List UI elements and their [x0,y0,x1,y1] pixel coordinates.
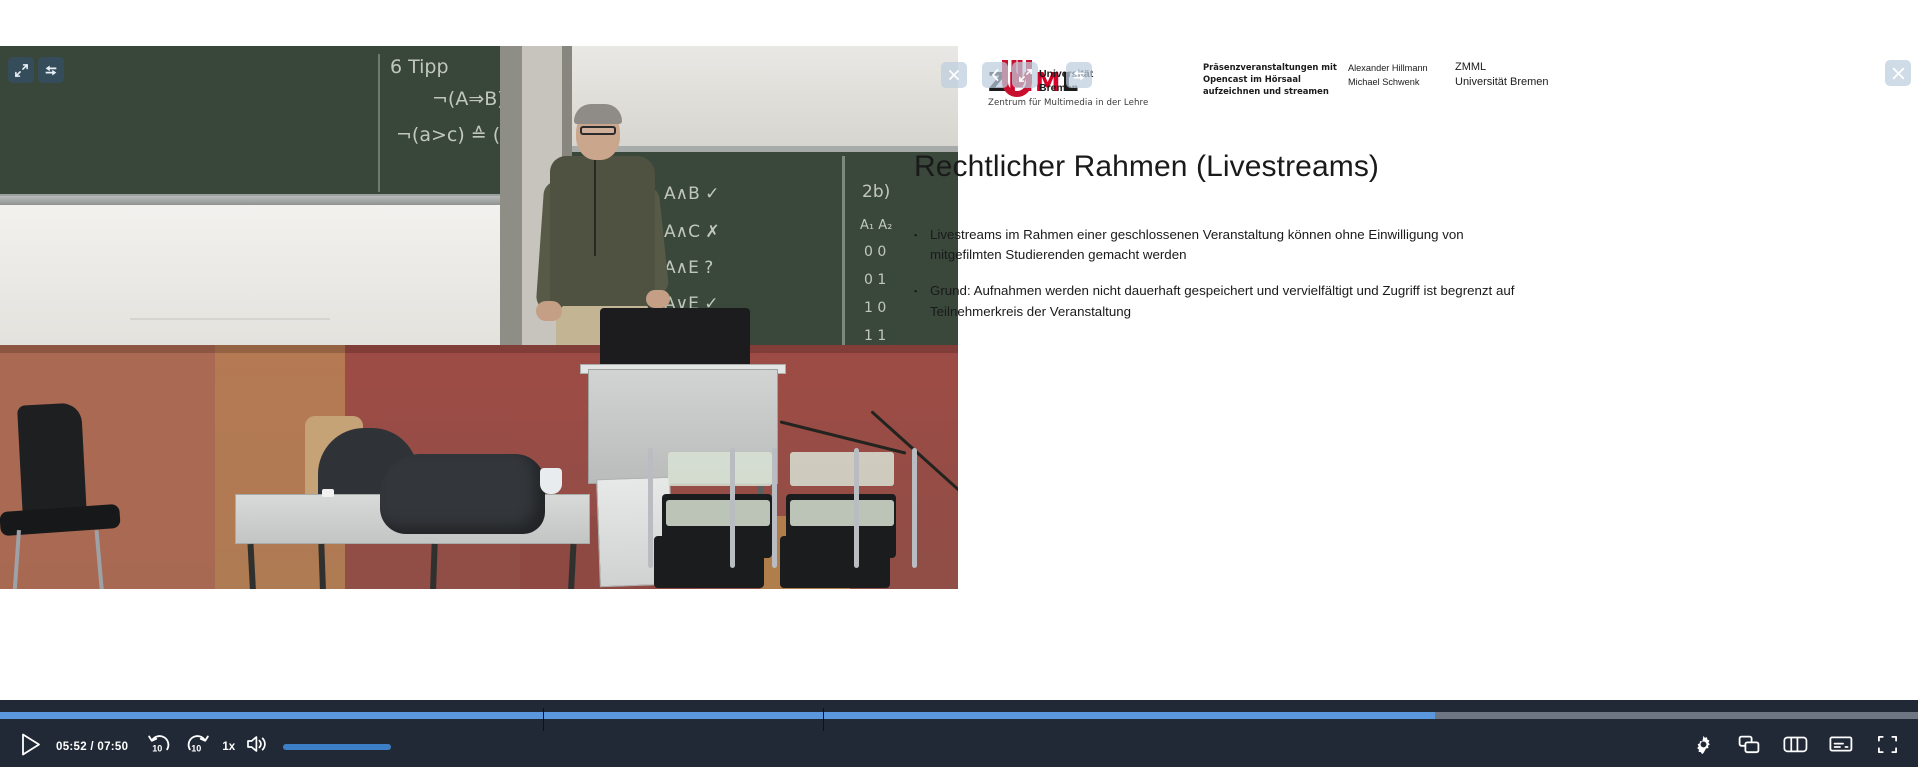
seat-backrest [790,452,894,486]
jacket-on-table [380,454,545,534]
fullscreen-button[interactable] [1874,726,1900,767]
rewind-10-button[interactable]: 10 [140,726,178,767]
seat-frame-bar [648,448,653,568]
layout-button[interactable] [1782,726,1808,767]
captions-button[interactable] [1828,726,1854,767]
close-icon [947,68,961,82]
seat-frame-bar [772,448,777,568]
lecturer-hand-left [536,301,562,321]
chalk-text: 0 0 [864,244,886,260]
seat-plate [666,500,770,526]
video-stream[interactable]: 6 Tipp ¬(A⇒B) ⟺ A ∧ ¬B ¬(a>c) ≙ (a≤c) A∧… [0,46,960,589]
video-player: 6 Tipp ¬(A⇒B) ⟺ A ∧ ¬B ¬(a>c) ≙ (a≤c) A∧… [0,0,1918,767]
slide-title: Rechtlicher Rahmen (Livestreams) [914,150,1814,184]
seat-base [780,536,890,588]
picture-in-picture-icon [1738,735,1760,759]
blackboard-left-divider [378,54,380,192]
slide-bullet-list: ▪ Livestreams im Rahmen einer geschlosse… [914,225,1534,338]
seat-frame-bar [912,448,917,568]
forward-10-icon: 10 [185,732,210,761]
forward-10-button[interactable]: 10 [178,726,216,767]
svg-text:10: 10 [191,743,201,753]
slide-bullet-item: ▪ Livestreams im Rahmen einer geschlosse… [914,225,1534,265]
chalk-text: 1 1 [864,328,886,344]
laptop [600,308,750,370]
org-line-1: ZMML [1455,60,1615,75]
chalk-text: 0 1 [864,272,886,288]
fullscreen-icon [1877,734,1898,760]
video-resize-button[interactable] [8,57,34,83]
wall-right [572,46,960,146]
volume-slider[interactable] [283,742,391,752]
gear-icon [1694,735,1713,759]
bullet-marker-icon: ▪ [914,281,930,321]
slide-corner-close-button[interactable] [1885,60,1911,86]
swap-arrows-icon [43,63,59,78]
slide-bullet-text: Livestreams im Rahmen einer geschlossene… [930,225,1534,265]
chalk-text: A∧E ? [664,258,713,278]
lecturer-hand-right [646,290,670,308]
slide-header-subject: Präsenzveranstaltungen mit Opencast im H… [1203,62,1353,98]
bullet-marker-icon: ▪ [914,225,930,265]
progress-bar[interactable] [0,708,1918,722]
floor-wall-joint [0,345,960,353]
close-icon [1891,66,1906,81]
slide-resize-button[interactable] [1012,62,1038,88]
microphone-cord [594,151,596,256]
chalk-text: A∧B ✓ [664,184,719,204]
play-button[interactable] [0,726,52,767]
captions-icon [1829,735,1853,758]
chalk-text: A∧C ✗ [664,222,720,242]
video-swap-button[interactable] [38,57,64,83]
slide-prev-button[interactable] [982,62,1008,88]
slide-close-button[interactable] [941,62,967,88]
expand-diagonal-icon [1018,68,1033,83]
slide-bullet-item: ▪ Grund: Aufnahmen werden nicht dauerhaf… [914,281,1534,321]
play-icon [19,732,42,762]
time-display: 05:52 / 07:50 [56,741,128,753]
settings-button[interactable] [1690,726,1716,767]
lecturer-glasses [580,126,616,135]
slide-bullet-text: Grund: Aufnahmen werden nicht dauerhaft … [930,281,1534,321]
swap-arrows-icon [1071,68,1087,83]
chalk-text: 6 Tipp [390,56,449,78]
slide-swap-button[interactable] [1066,62,1092,88]
svg-text:10: 10 [152,743,162,753]
chalk-text: 2b) [862,182,890,202]
seat-frame-bar [730,448,735,568]
controls-right-group [1690,726,1900,767]
seat-plate [790,500,894,526]
seat-frame-bar [854,448,859,568]
wall-below-left-board [0,205,500,345]
player-control-bar: 05:52 / 07:50 10 10 [0,700,1918,767]
slide-header-organisation: ZMML Universität Bremen [1455,60,1615,89]
layout-columns-icon [1783,735,1808,759]
lecturer-torso [550,156,655,306]
blackboard-left-rail [0,196,500,205]
multistream-button[interactable] [1736,726,1762,767]
wall-trim-line [130,318,330,320]
seat-row [590,450,960,589]
chalk-text: A₁ A₂ [860,218,892,233]
seat-backrest [668,452,772,486]
controls-left-group: 05:52 / 07:50 10 10 [0,726,1918,767]
chevron-left-icon [989,68,1002,82]
cup-on-table [540,468,562,494]
paper-on-table [322,489,334,497]
volume-fill [283,744,391,750]
player-stage: 6 Tipp ¬(A⇒B) ⟺ A ∧ ¬B ¬(a>c) ≙ (a≤c) A∧… [0,0,1918,700]
chalk-text: 1 0 [864,300,886,316]
presentation-slide[interactable]: ZMML Zentrum für Multimedia in der Lehre… [958,40,1918,590]
progress-fill [0,712,1435,719]
org-line-2: Universität Bremen [1455,75,1615,90]
lecturer-hair [574,104,622,124]
door-frame-outer [500,46,522,346]
expand-diagonal-icon [14,63,29,78]
volume-button[interactable] [241,726,273,767]
rewind-10-icon: 10 [147,732,172,761]
volume-on-icon [246,734,268,759]
black-chair-back [17,402,87,521]
seat-base [654,536,764,588]
playback-speed-button[interactable]: 1x [222,726,235,767]
